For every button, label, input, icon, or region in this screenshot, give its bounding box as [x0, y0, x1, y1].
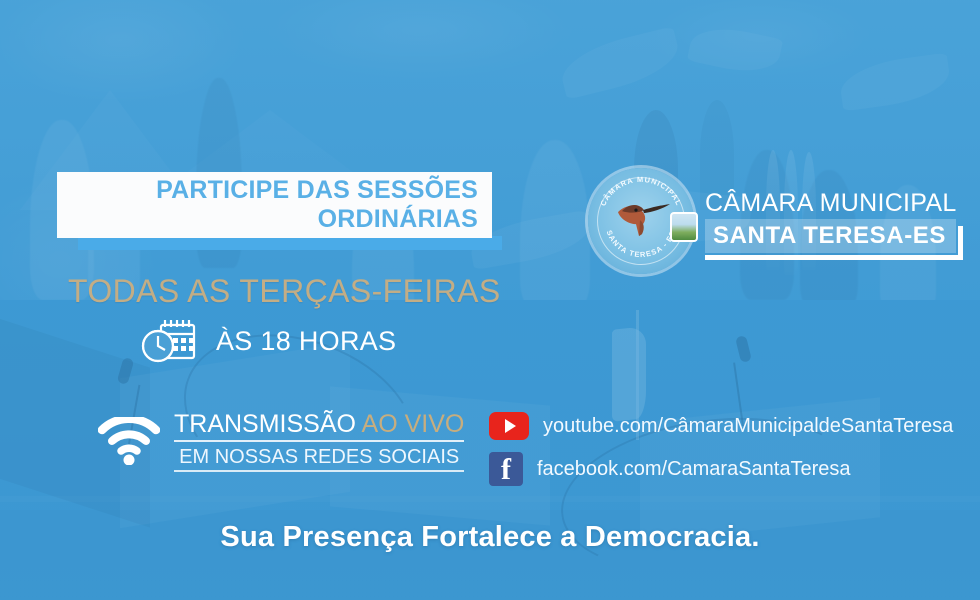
logo-underline-bar: [705, 255, 963, 260]
transmission-row: TRANSMISSÃO AO VIVO EM NOSSAS REDES SOCI…: [98, 410, 464, 472]
youtube-link[interactable]: youtube.com/CâmaraMunicipaldeSantaTeresa: [489, 412, 953, 440]
transmission-line-2: EM NOSSAS REDES SOCIAIS: [174, 445, 464, 472]
facebook-f-glyph: f: [489, 453, 523, 487]
tagline-text: Sua Presença Fortalece a Democracia.: [0, 520, 980, 554]
poster-content: PARTICIPE DAS SESSÕES ORDINÁRIAS TODAS A…: [0, 0, 980, 600]
headline-line-2: ORDINÁRIAS: [57, 205, 478, 234]
transmission-live-highlight: AO VIVO: [362, 410, 465, 438]
coat-of-arms-icon: [670, 212, 698, 242]
facebook-icon[interactable]: f: [489, 452, 523, 486]
transmission-prefix: TRANSMISSÃO: [174, 410, 362, 438]
youtube-icon[interactable]: [489, 412, 529, 440]
hummingbird-icon: [610, 198, 672, 242]
headline-text: PARTICIPE DAS SESSÕES ORDINÁRIAS: [57, 176, 492, 234]
wifi-icon: [98, 417, 160, 465]
poster-canvas: PARTICIPE DAS SESSÕES ORDINÁRIAS TODAS A…: [0, 0, 980, 600]
headline-accent-bar: [78, 236, 502, 250]
weekday-text: TODAS AS TERÇAS-FEIRAS: [68, 272, 488, 310]
facebook-link[interactable]: f facebook.com/CamaraSantaTeresa: [489, 452, 953, 486]
transmission-text: TRANSMISSÃO AO VIVO EM NOSSAS REDES SOCI…: [174, 410, 464, 472]
transmission-line-1: TRANSMISSÃO AO VIVO: [174, 410, 464, 442]
headline-line-1: PARTICIPE DAS SESSÕES: [57, 176, 478, 205]
hour-row: ÀS 18 HORAS: [140, 316, 396, 366]
facebook-url-text: facebook.com/CamaraSantaTeresa: [537, 457, 851, 481]
logo-right-tick: [958, 226, 963, 260]
youtube-url-text: youtube.com/CâmaraMunicipaldeSantaTeresa: [543, 414, 953, 438]
social-links: youtube.com/CâmaraMunicipaldeSantaTeresa…: [489, 412, 953, 486]
logo-title-line-1: CÂMARA MUNICIPAL: [705, 189, 957, 217]
play-triangle-icon: [505, 419, 516, 433]
calendar-clock-icon: [140, 316, 202, 366]
hour-text: ÀS 18 HORAS: [216, 326, 396, 357]
logo-title-line-2-wrap: SANTA TERESA-ES: [705, 219, 957, 253]
logo-lockup: CÂMARA MUNICIPAL SANTA TERESA - ES CÂMAR…: [588, 168, 957, 274]
council-seal: CÂMARA MUNICIPAL SANTA TERESA - ES: [588, 168, 694, 274]
logo-title-line-2: SANTA TERESA-ES: [705, 219, 956, 253]
logo-title-block: CÂMARA MUNICIPAL SANTA TERESA-ES: [705, 189, 957, 253]
